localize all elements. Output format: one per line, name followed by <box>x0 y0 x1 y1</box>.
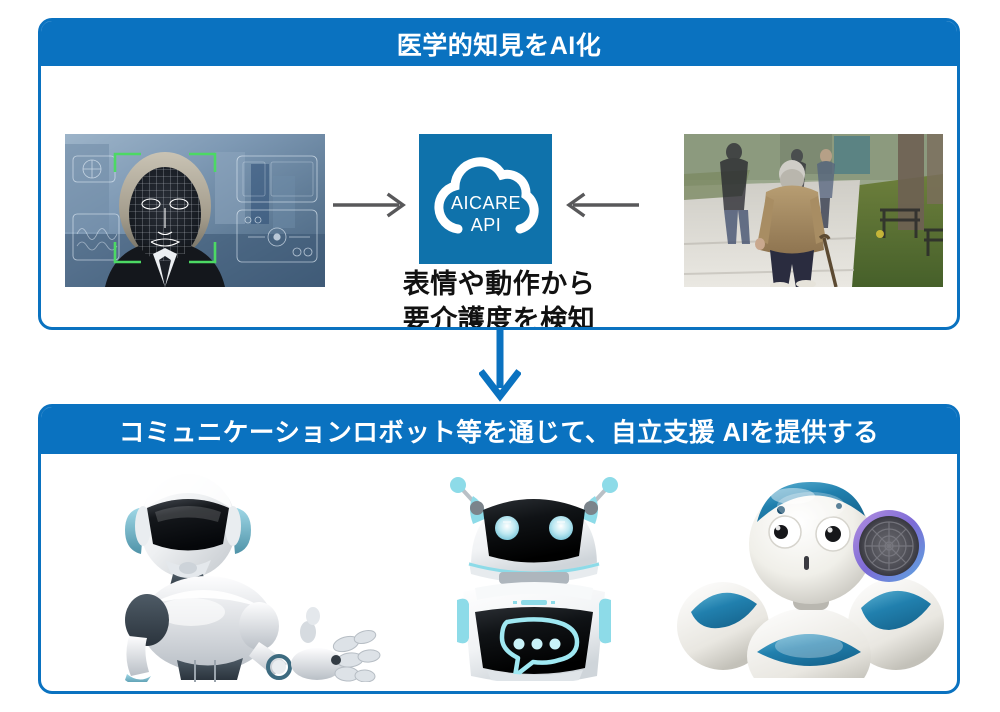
arrow-left-icon <box>561 192 639 218</box>
cloud-icon: AICARE API <box>430 147 542 251</box>
bottom-panel-body <box>41 454 957 691</box>
arrow-down-icon <box>479 330 521 404</box>
nao-style-blue-robot <box>661 466 953 678</box>
humanoid-robot-gesturing <box>103 464 403 682</box>
detect-caption: 表情や動作から 要介護度を検知 <box>41 266 957 330</box>
top-panel: 医学的知見をAI化 <box>38 18 960 330</box>
facial-recognition-photo <box>65 134 325 287</box>
arrow-right-icon <box>333 192 411 218</box>
bottom-panel-title: コミュニケーションロボット等を通じて、自立支援 AIを提供する <box>41 407 957 454</box>
api-label-line2: API <box>470 215 501 235</box>
detect-caption-line1: 表情や動作から <box>41 266 957 302</box>
aicare-api-box: AICARE API <box>419 134 552 264</box>
bottom-panel: コミュニケーションロボット等を通じて、自立支援 AIを提供する <box>38 404 960 694</box>
top-panel-title: 医学的知見をAI化 <box>41 21 957 66</box>
api-label-line1: AICARE <box>450 193 520 213</box>
chat-robot-speech-bubble <box>433 466 655 681</box>
detect-caption-line2: 要介護度を検知 <box>41 302 957 330</box>
elderly-walking-photo <box>684 134 943 287</box>
top-panel-body: AICARE API <box>41 66 957 327</box>
